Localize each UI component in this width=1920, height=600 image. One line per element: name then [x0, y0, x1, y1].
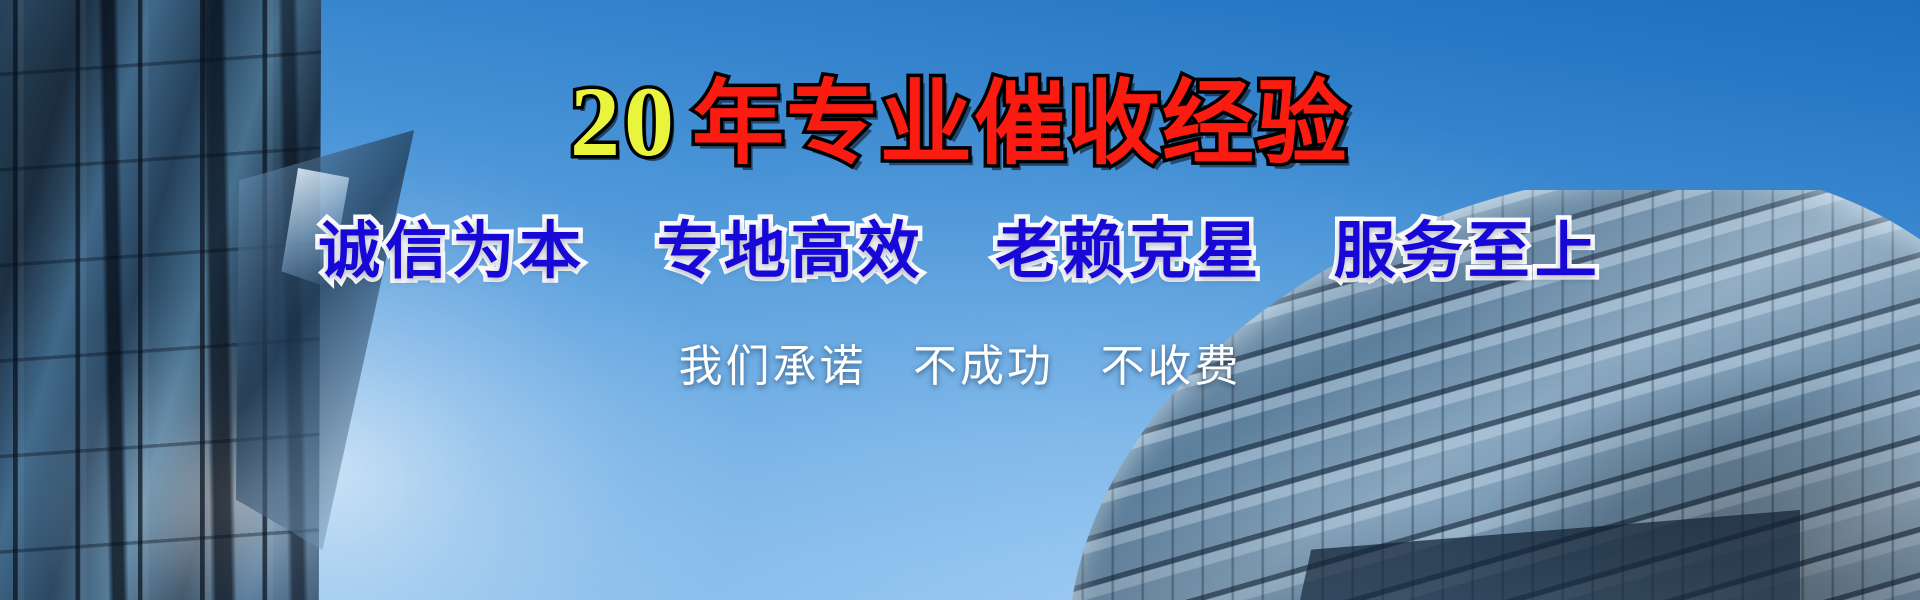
slogan-segment-2: 专地高效	[657, 217, 925, 286]
promise-segment-1: 我们承诺	[679, 342, 867, 391]
slogan-segment-3: 老赖克星	[995, 217, 1263, 286]
slogan-line: 诚信为本 专地高效 老赖克星 服务至上	[318, 200, 1601, 290]
hero-banner: 20 年专业催收经验 诚信为本 专地高效 老赖克星 服务至上 我们承诺 不成功 …	[0, 0, 1920, 600]
headline: 20 年专业催收经验	[570, 72, 1350, 172]
promise-segment-3: 不收费	[1100, 342, 1241, 391]
slogan-segment-4: 服务至上	[1334, 217, 1602, 286]
promise-line: 我们承诺 不成功 不收费	[679, 330, 1242, 394]
headline-main-text: 年专业催收经验	[692, 78, 1350, 170]
slogan-segment-1: 诚信为本	[318, 217, 586, 286]
promise-segment-2: 不成功	[913, 342, 1054, 391]
headline-years-number: 20	[570, 72, 678, 172]
banner-text-block: 20 年专业催收经验 诚信为本 专地高效 老赖克星 服务至上 我们承诺 不成功 …	[0, 0, 1920, 600]
